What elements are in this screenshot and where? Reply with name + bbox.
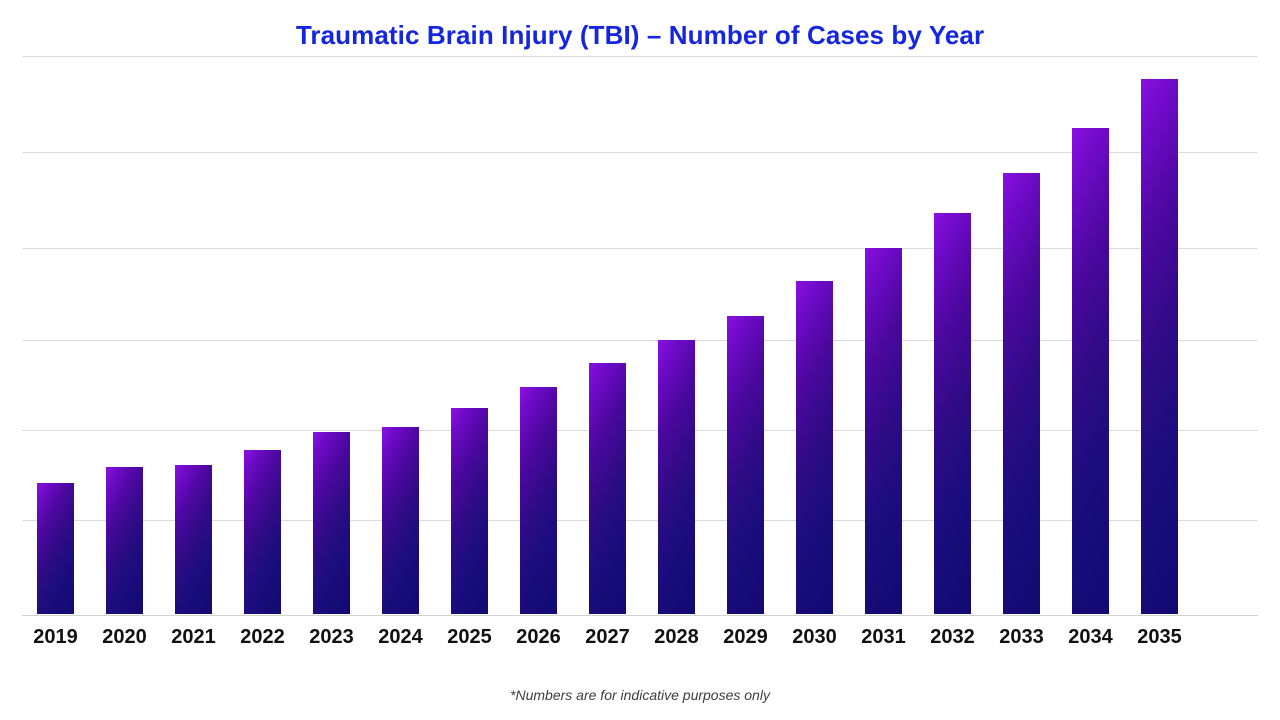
bar-2033[interactable] [1003,173,1040,614]
plot-area [22,50,1258,616]
x-label-2031: 2031 [849,626,918,649]
x-label-2019: 2019 [21,626,90,649]
x-label-2028: 2028 [642,626,711,649]
bar-2031[interactable] [865,248,902,614]
bar-2021[interactable] [175,465,212,614]
x-axis-line [22,615,1258,616]
bar-2035[interactable] [1141,79,1178,614]
bar-2023[interactable] [313,432,350,614]
x-label-2032: 2032 [918,626,987,649]
x-label-2027: 2027 [573,626,642,649]
bar-2019[interactable] [37,483,74,614]
bar-2024[interactable] [382,427,419,614]
chart-title: Traumatic Brain Injury (TBI) – Number of… [0,20,1280,51]
bar-2028[interactable] [658,340,695,614]
bars-layer [22,50,1258,614]
bar-2027[interactable] [589,363,626,614]
x-label-2034: 2034 [1056,626,1125,649]
x-label-2026: 2026 [504,626,573,649]
bar-2022[interactable] [244,450,281,614]
x-label-2023: 2023 [297,626,366,649]
bar-2034[interactable] [1072,128,1109,614]
bar-2020[interactable] [106,467,143,614]
x-label-2025: 2025 [435,626,504,649]
x-label-2033: 2033 [987,626,1056,649]
chart-footnote: *Numbers are for indicative purposes onl… [0,687,1280,703]
x-label-2021: 2021 [159,626,228,649]
x-label-2030: 2030 [780,626,849,649]
x-label-2029: 2029 [711,626,780,649]
bar-2025[interactable] [451,408,488,614]
bar-2026[interactable] [520,387,557,614]
x-axis-tick-labels: 2019202020212022202320242025202620272028… [22,626,1258,656]
bar-2030[interactable] [796,281,833,614]
x-label-2020: 2020 [90,626,159,649]
chart-container: Traumatic Brain Injury (TBI) – Number of… [0,0,1280,720]
x-label-2035: 2035 [1125,626,1194,649]
bar-2029[interactable] [727,316,764,614]
bar-2032[interactable] [934,213,971,614]
x-label-2022: 2022 [228,626,297,649]
x-label-2024: 2024 [366,626,435,649]
